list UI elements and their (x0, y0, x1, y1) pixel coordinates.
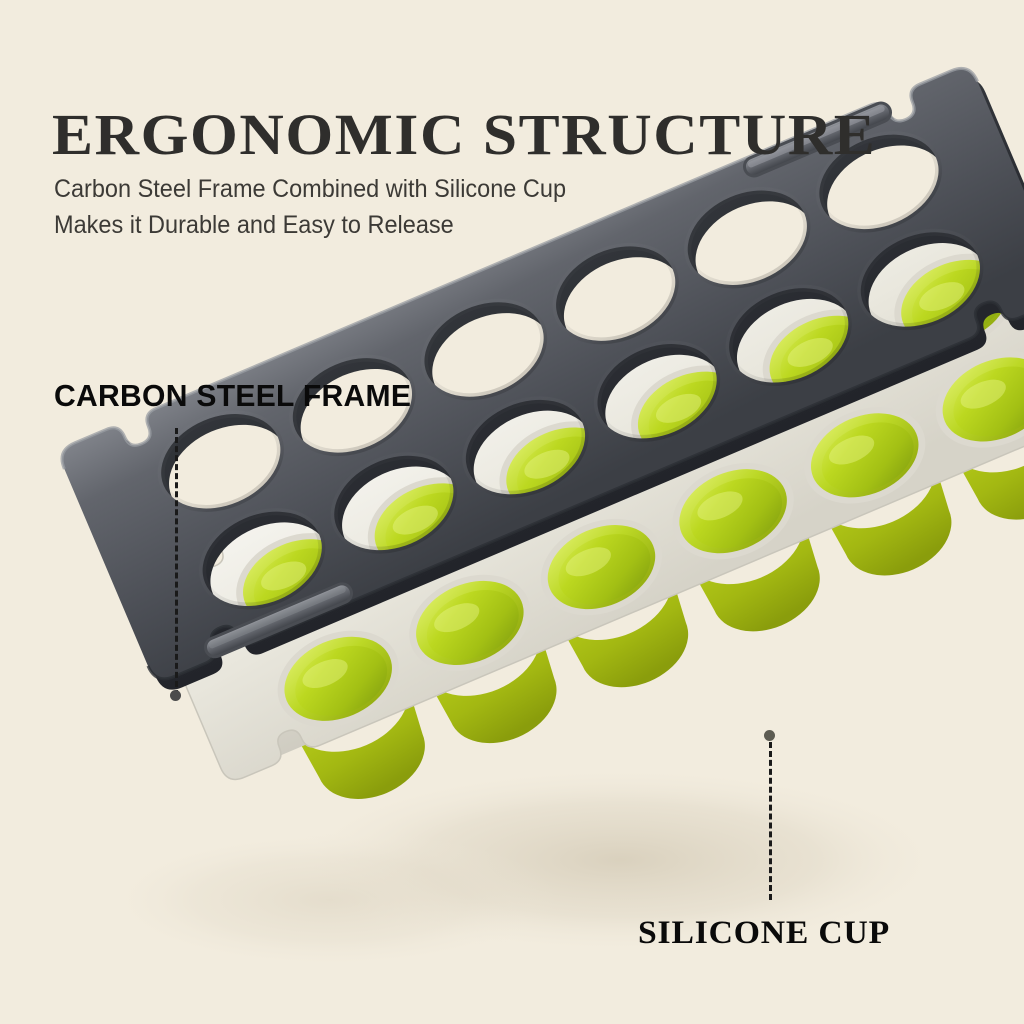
callout-leader-line-carbon-steel-frame (175, 428, 178, 696)
infographic-canvas: ERGONOMIC STRUCTURE Carbon Steel Frame C… (0, 0, 1024, 1024)
callout-label-silicone-cup: SILICONE CUP (638, 915, 890, 952)
callout-leader-line-silicone-cup (769, 742, 772, 900)
subtitle-line-2: Makes it Durable and Easy to Release (54, 211, 454, 240)
page-title: ERGONOMIC STRUCTURE (52, 101, 876, 168)
callout-anchor-dot-silicone-cup (764, 730, 775, 741)
subtitle-line-1: Carbon Steel Frame Combined with Silicon… (54, 175, 566, 204)
callout-anchor-dot-carbon-steel-frame (170, 690, 181, 701)
callout-label-carbon-steel-frame: CARBON STEEL FRAME (54, 378, 411, 414)
